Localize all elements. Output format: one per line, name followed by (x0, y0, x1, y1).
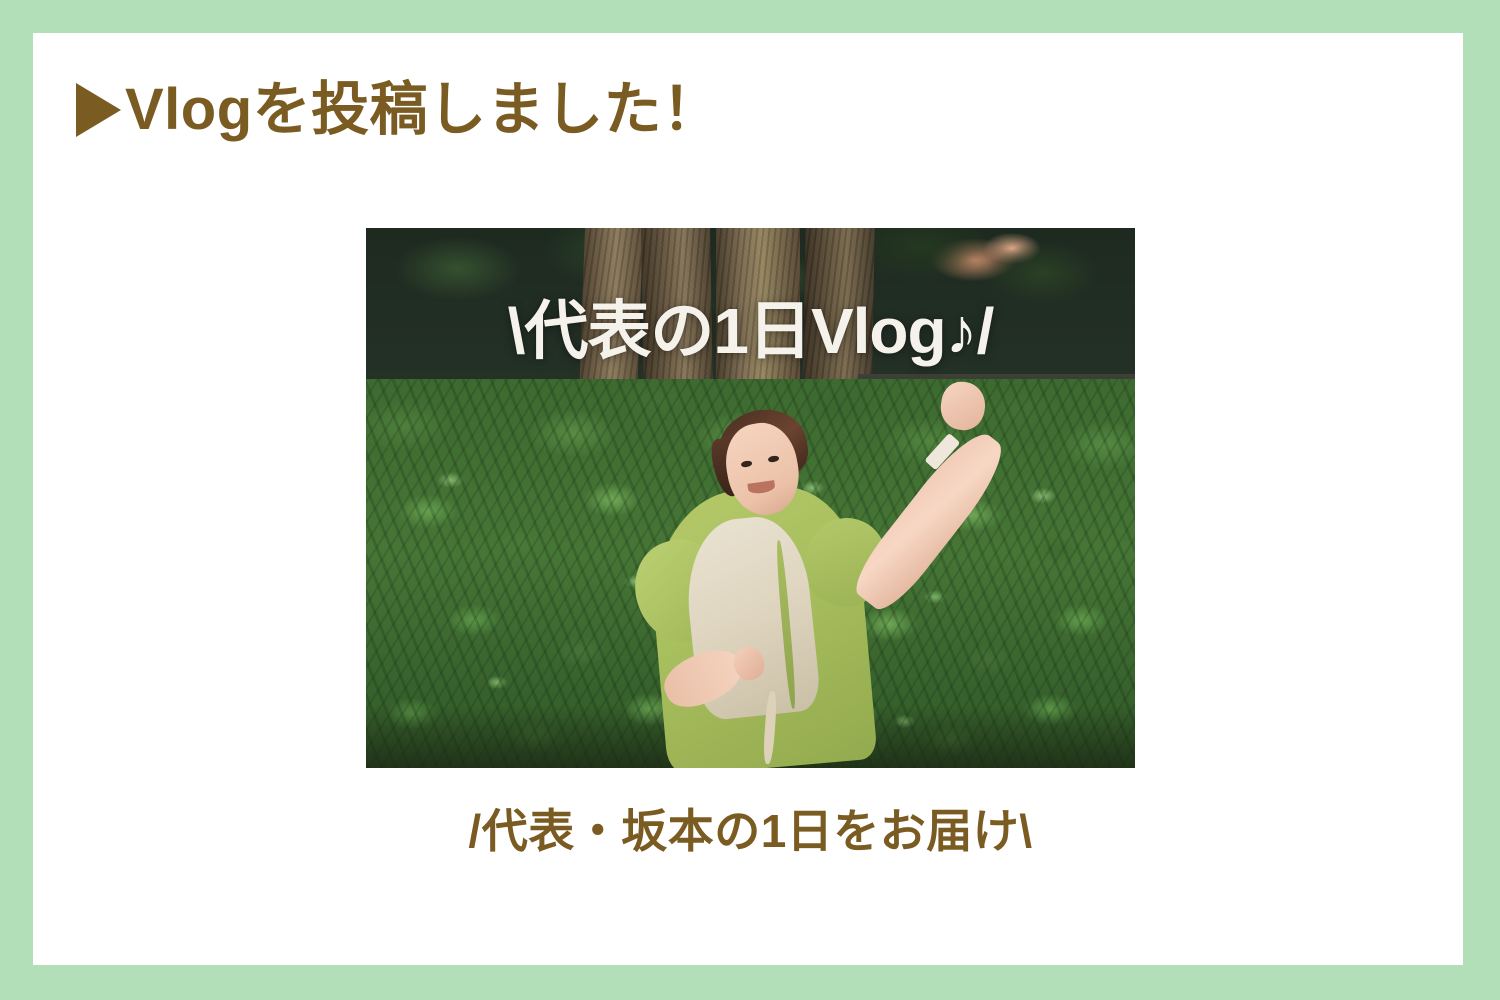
play-triangle-icon (76, 83, 121, 137)
thumbnail-overlay-text: \代表の1日Vlog♪/ (366, 280, 1135, 372)
white-panel: Vlogを投稿しました！ (33, 33, 1463, 965)
page-title-text: Vlogを投稿しました！ (125, 81, 721, 139)
video-thumbnail[interactable]: \代表の1日Vlog♪/ (366, 228, 1135, 768)
caption-text: /代表・坂本の1日をお届け\ (366, 795, 1135, 861)
page-title: Vlogを投稿しました！ (76, 81, 721, 139)
person-figure (643, 401, 981, 768)
slide-root: Vlogを投稿しました！ (0, 0, 1500, 1000)
